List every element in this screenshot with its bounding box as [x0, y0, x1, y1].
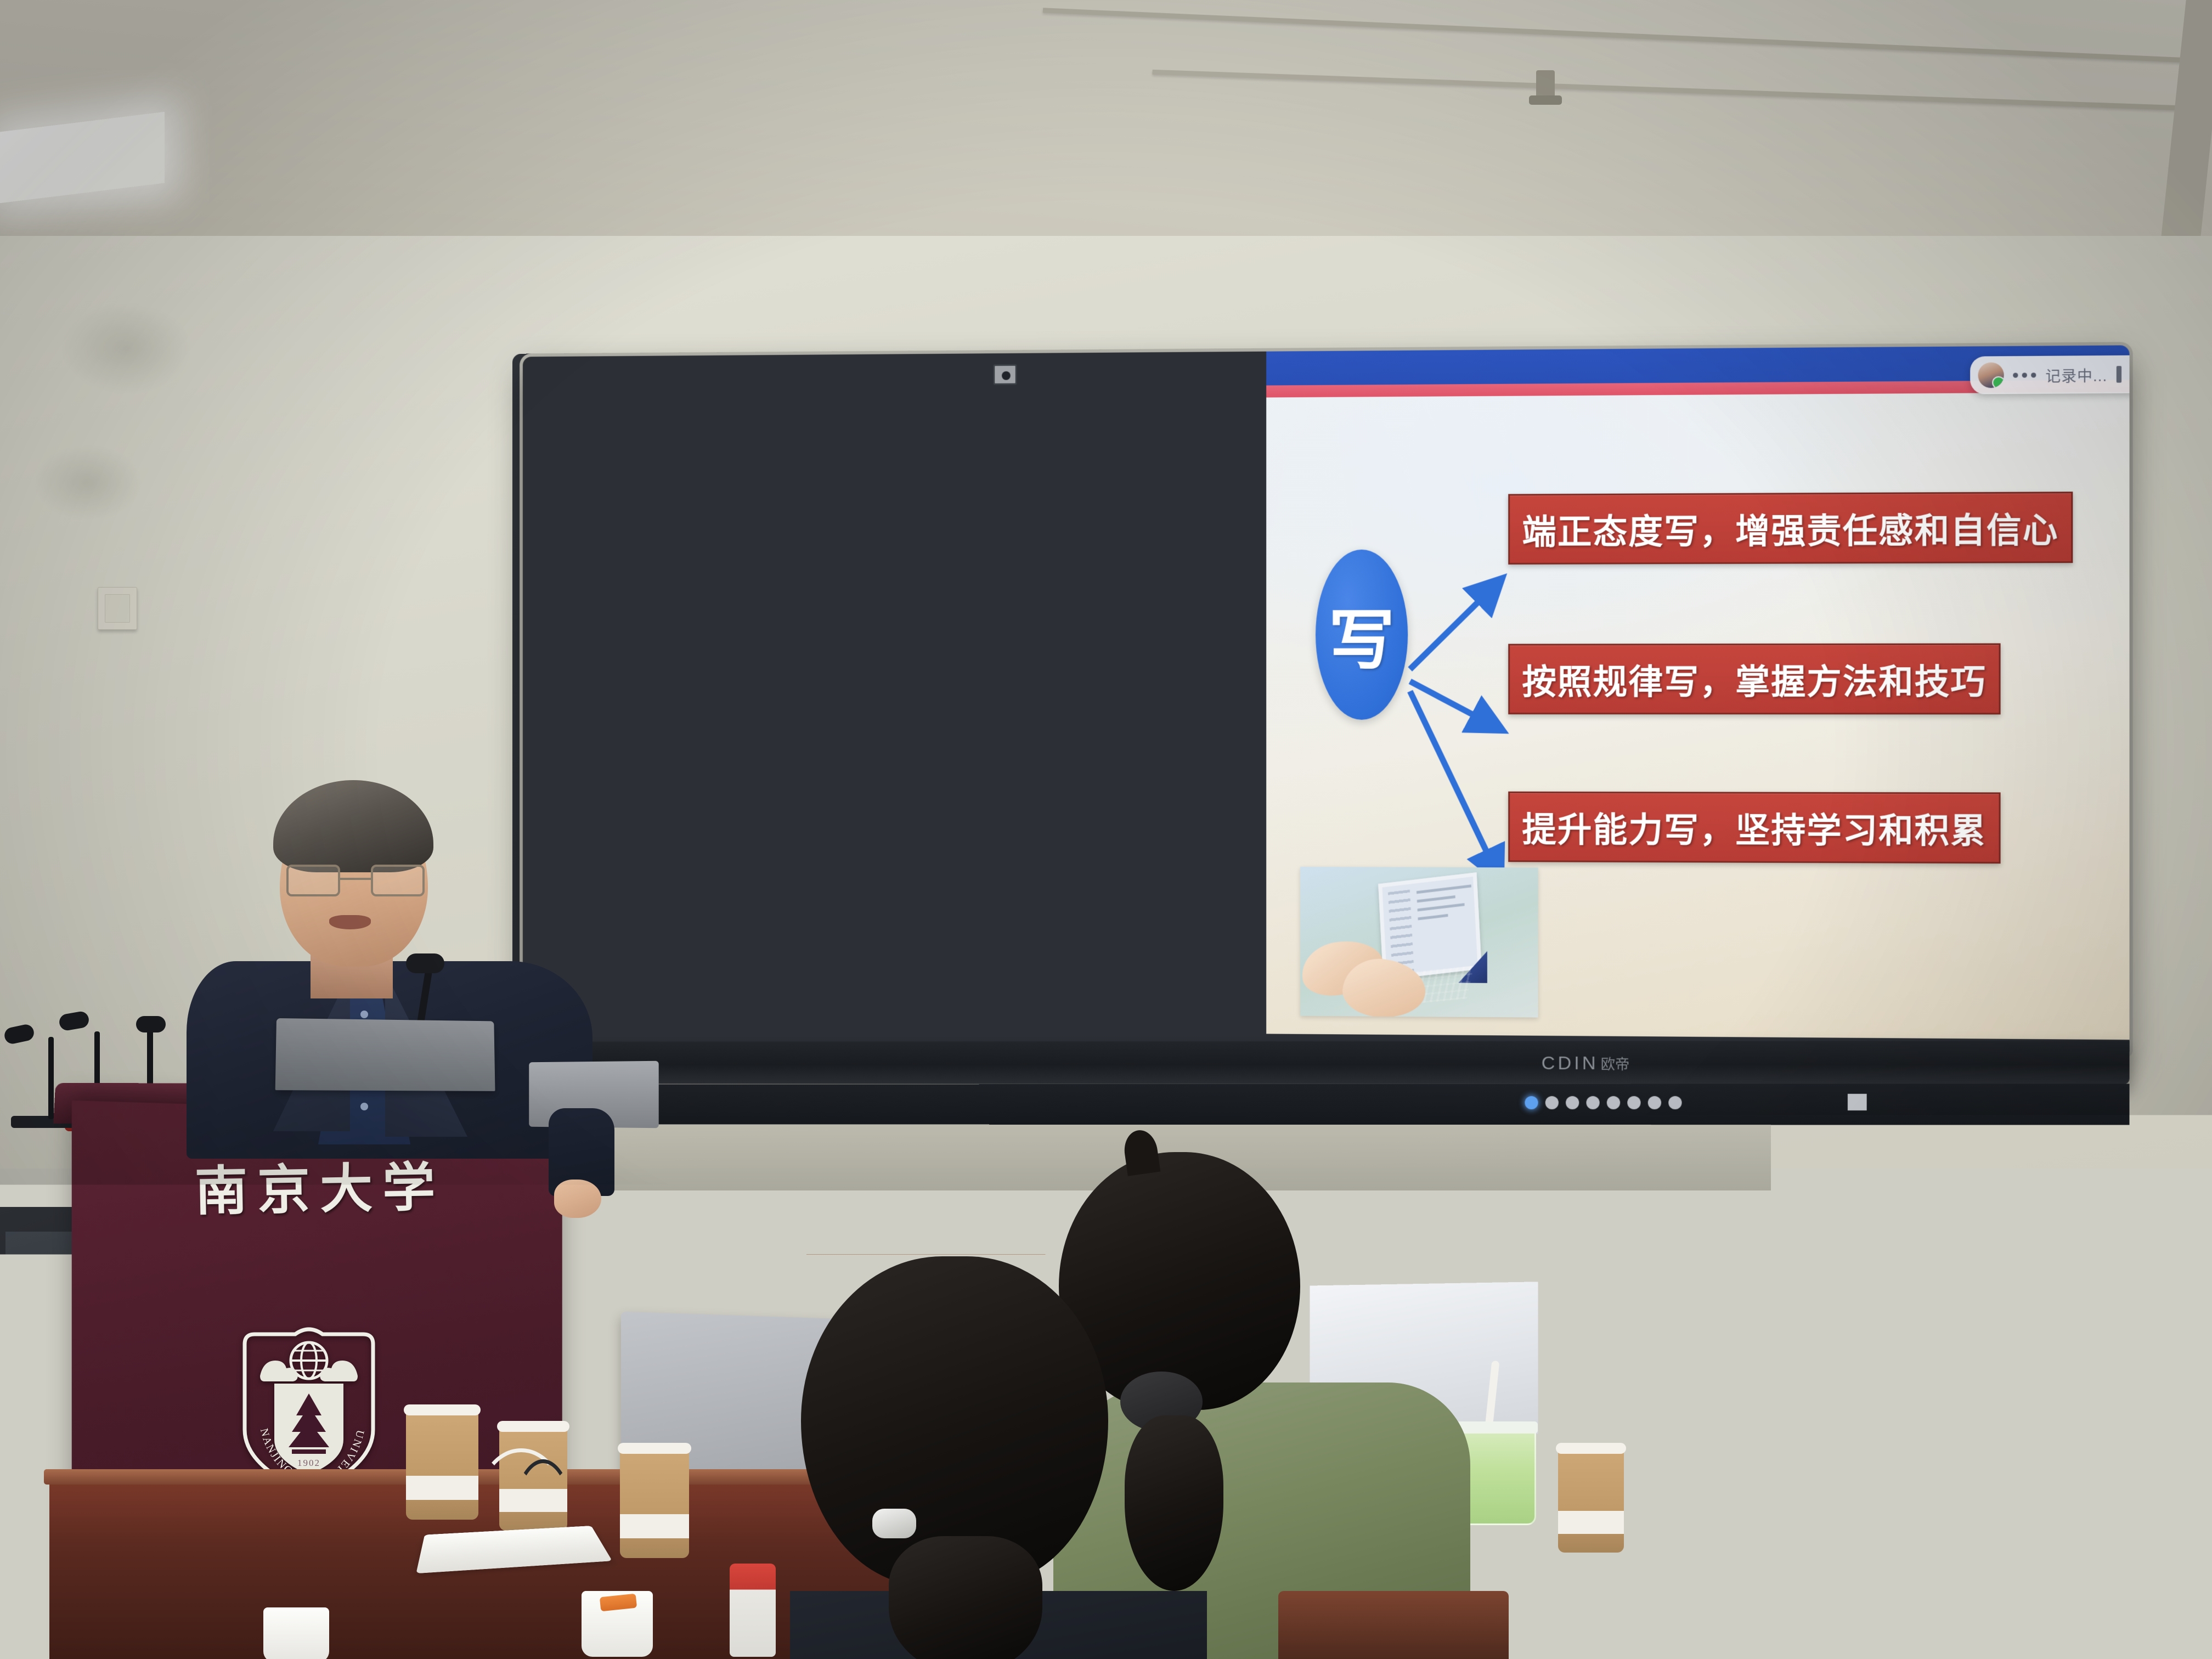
paper-sheet[interactable]: [1644, 1516, 1899, 1633]
coffee-cup[interactable]: [406, 1410, 478, 1520]
coffee-cup[interactable]: [620, 1448, 689, 1558]
avatar[interactable]: [1978, 362, 2004, 388]
display-button[interactable]: [1668, 1096, 1681, 1109]
hair-clip: [872, 1509, 916, 1538]
display-button[interactable]: [1607, 1096, 1620, 1109]
coffee-cup[interactable]: [1558, 1448, 1624, 1553]
microphone-head: [136, 1016, 166, 1032]
slide-callout-box: 端正态度写，增强责任感和自信心: [1508, 492, 2073, 565]
chair-back: [1278, 1591, 1509, 1659]
slide-content: 写 端正态度写，增强责任感和自信心 按照规律写，掌握方法和技巧 提升能力写，坚持…: [1266, 392, 2129, 1040]
ceiling-conduit: [1043, 8, 2194, 63]
recording-toolbar[interactable]: 记录中...: [1971, 355, 2130, 394]
presenter-glasses-icon: [286, 865, 425, 900]
display-button[interactable]: [1648, 1096, 1661, 1109]
display-camera-icon: [993, 364, 1017, 385]
microphone-stem: [48, 1037, 54, 1119]
pause-icon[interactable]: [2117, 366, 2121, 383]
slide-callout-box: 按照规律写，掌握方法和技巧: [1508, 644, 2000, 715]
chair-back: [636, 1607, 779, 1659]
audience-member-right: [1942, 1333, 2212, 1659]
display-button[interactable]: [1566, 1096, 1579, 1109]
slide-center-node-label: 写: [1329, 587, 1395, 682]
lecture-hall-scene: 记录中... 写: [0, 0, 2212, 1659]
slide-callout-text: 端正态度写，增强责任感和自信心: [1522, 503, 2058, 554]
emblem-year: 1902: [297, 1458, 320, 1468]
display-button-strip[interactable]: [523, 1084, 2130, 1125]
tablet-content-lines: [1417, 884, 1473, 926]
audience-member-front: [768, 1251, 1196, 1659]
cable: [510, 1459, 576, 1602]
rack-led-row: [10, 1476, 48, 1485]
presenter-laptop[interactable]: [275, 1018, 495, 1091]
glass-jar[interactable]: [263, 1607, 329, 1659]
ceiling-light-panel: [0, 112, 165, 204]
port-plate: [1848, 1094, 1867, 1110]
brand-mark-text: CDIN: [1542, 1053, 1599, 1074]
more-options-icon[interactable]: [2013, 373, 2036, 377]
display-button[interactable]: [1586, 1096, 1599, 1109]
smart-display[interactable]: 记录中... 写: [523, 345, 2130, 1053]
slide-callout-text: 提升能力写，坚持学习和积累: [1522, 802, 1987, 853]
display-button-row[interactable]: [1525, 1096, 1681, 1109]
ceiling-edge-strip: [2159, 0, 2212, 258]
ponytail: [889, 1536, 1042, 1659]
display-button[interactable]: [1545, 1096, 1559, 1109]
recording-status-label: 记录中...: [2045, 364, 2107, 386]
wall-smudge: [60, 302, 192, 395]
wall-switch-plate[interactable]: [98, 587, 137, 630]
brand-cn-text: 欧帝: [1601, 1053, 1630, 1074]
presenter-hair: [273, 780, 433, 872]
slide-photo-typing: [1300, 867, 1538, 1018]
display-brand-logo: CDIN 欧帝: [1542, 1053, 1630, 1074]
slide-callout-box: 提升能力写，坚持学习和积累: [1508, 792, 2000, 864]
power-button[interactable]: [1525, 1096, 1538, 1109]
display-button[interactable]: [1627, 1096, 1640, 1109]
ceiling: [0, 0, 2212, 258]
slide-center-node: 写: [1316, 549, 1408, 720]
display-screen[interactable]: 记录中... 写: [1266, 345, 2129, 1040]
wall-smudge: [33, 444, 143, 521]
presenter-mouth: [329, 915, 371, 929]
sprinkler-head: [1536, 70, 1555, 101]
mug-contents: [600, 1594, 637, 1612]
slide-callout-text: 按照规律写，掌握方法和技巧: [1522, 654, 1987, 704]
ceiling-conduit: [1152, 70, 2194, 111]
rack-led-row: [10, 1426, 63, 1435]
dark-jacket: [1942, 1569, 2212, 1659]
podium-microphone-head: [406, 953, 444, 973]
presenter-hand: [554, 1180, 601, 1218]
display-bottom-bezel: CDIN 欧帝: [523, 1041, 2130, 1084]
